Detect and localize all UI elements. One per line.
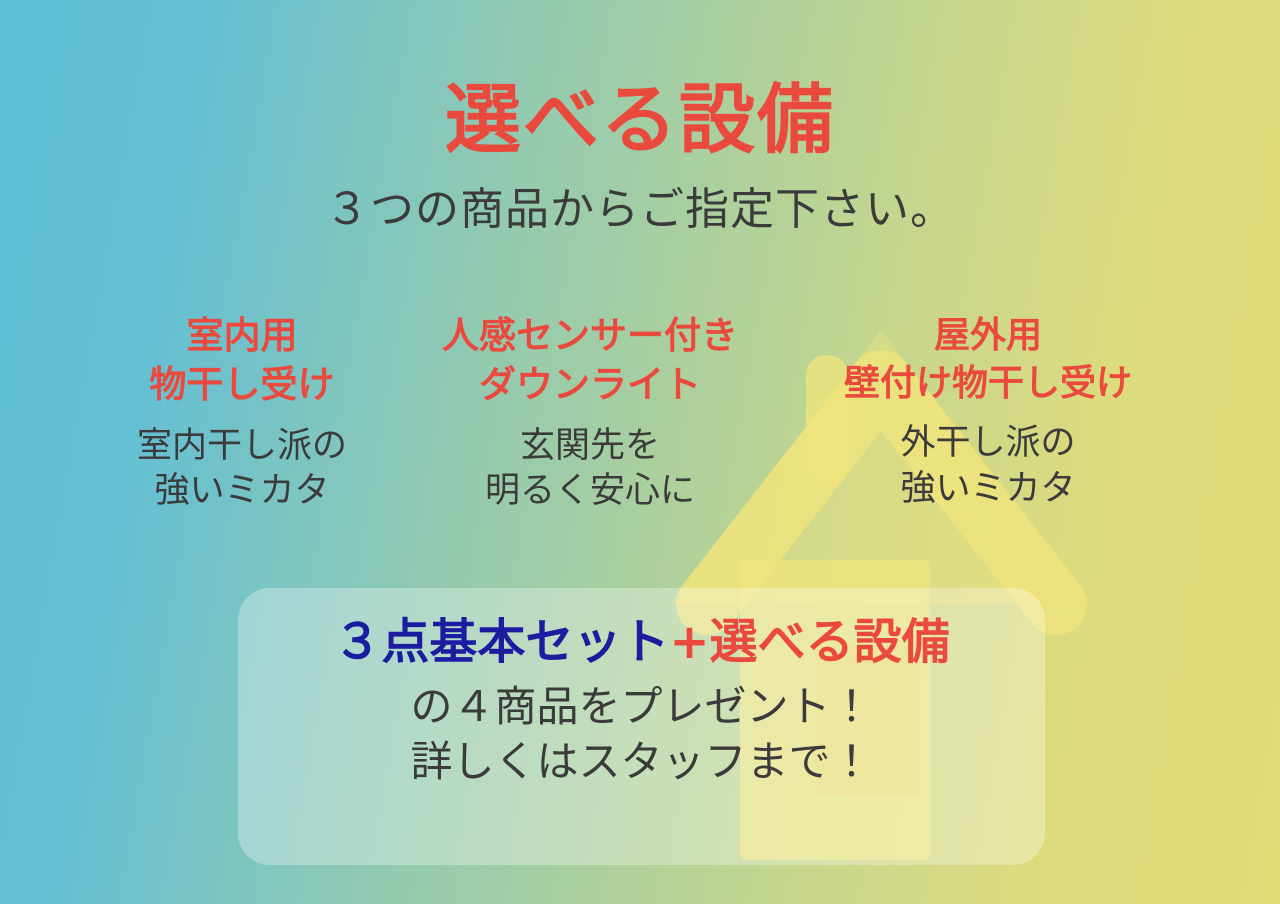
option-column-downlight: 人感センサー付き ダウンライト 玄関先を 明るく安心に bbox=[396, 312, 784, 515]
option-description: 室内干し派の 強いミカタ bbox=[92, 410, 392, 515]
option-name: 屋外用 壁付け物干し受け bbox=[788, 312, 1188, 407]
promo-panel-content: ３点基本セット+選べる設備 の４商品をプレゼント！ 詳しくはスタッフまで！ bbox=[238, 588, 1045, 785]
page-subtitle: ３つの商品からご指定下さい。 bbox=[0, 158, 1280, 232]
headline-block: 選べる設備 ３つの商品からご指定下さい。 bbox=[0, 0, 1280, 232]
option-description: 玄関先を 明るく安心に bbox=[400, 410, 780, 515]
promo-panel: ３点基本セット+選べる設備 の４商品をプレゼント！ 詳しくはスタッフまで！ bbox=[238, 588, 1045, 865]
promo-headline-choice: 選べる設備 bbox=[710, 614, 950, 670]
option-description: 外干し派の 強いミカタ bbox=[788, 407, 1188, 512]
option-name: 人感センサー付き ダウンライト bbox=[400, 312, 780, 410]
promo-headline-plus: + bbox=[669, 614, 709, 670]
option-name: 室内用 物干し受け bbox=[92, 312, 392, 410]
promo-poster: 選べる設備 ３つの商品からご指定下さい。 室内用 物干し受け 室内干し派の 強い… bbox=[0, 0, 1280, 904]
promo-headline-base-set: ３点基本セット bbox=[333, 614, 669, 670]
page-title: 選べる設備 bbox=[0, 0, 1280, 158]
promo-line-staff: 詳しくはスタッフまで！ bbox=[238, 730, 1045, 785]
promo-line-present: の４商品をプレゼント！ bbox=[238, 669, 1045, 730]
promo-headline: ３点基本セット+選べる設備 bbox=[238, 588, 1045, 669]
options-row: 室内用 物干し受け 室内干し派の 強いミカタ 人感センサー付き ダウンライト 玄… bbox=[0, 312, 1280, 515]
option-column-indoor: 室内用 物干し受け 室内干し派の 強いミカタ bbox=[88, 312, 396, 515]
option-column-outdoor: 屋外用 壁付け物干し受け 外干し派の 強いミカタ bbox=[784, 312, 1192, 512]
